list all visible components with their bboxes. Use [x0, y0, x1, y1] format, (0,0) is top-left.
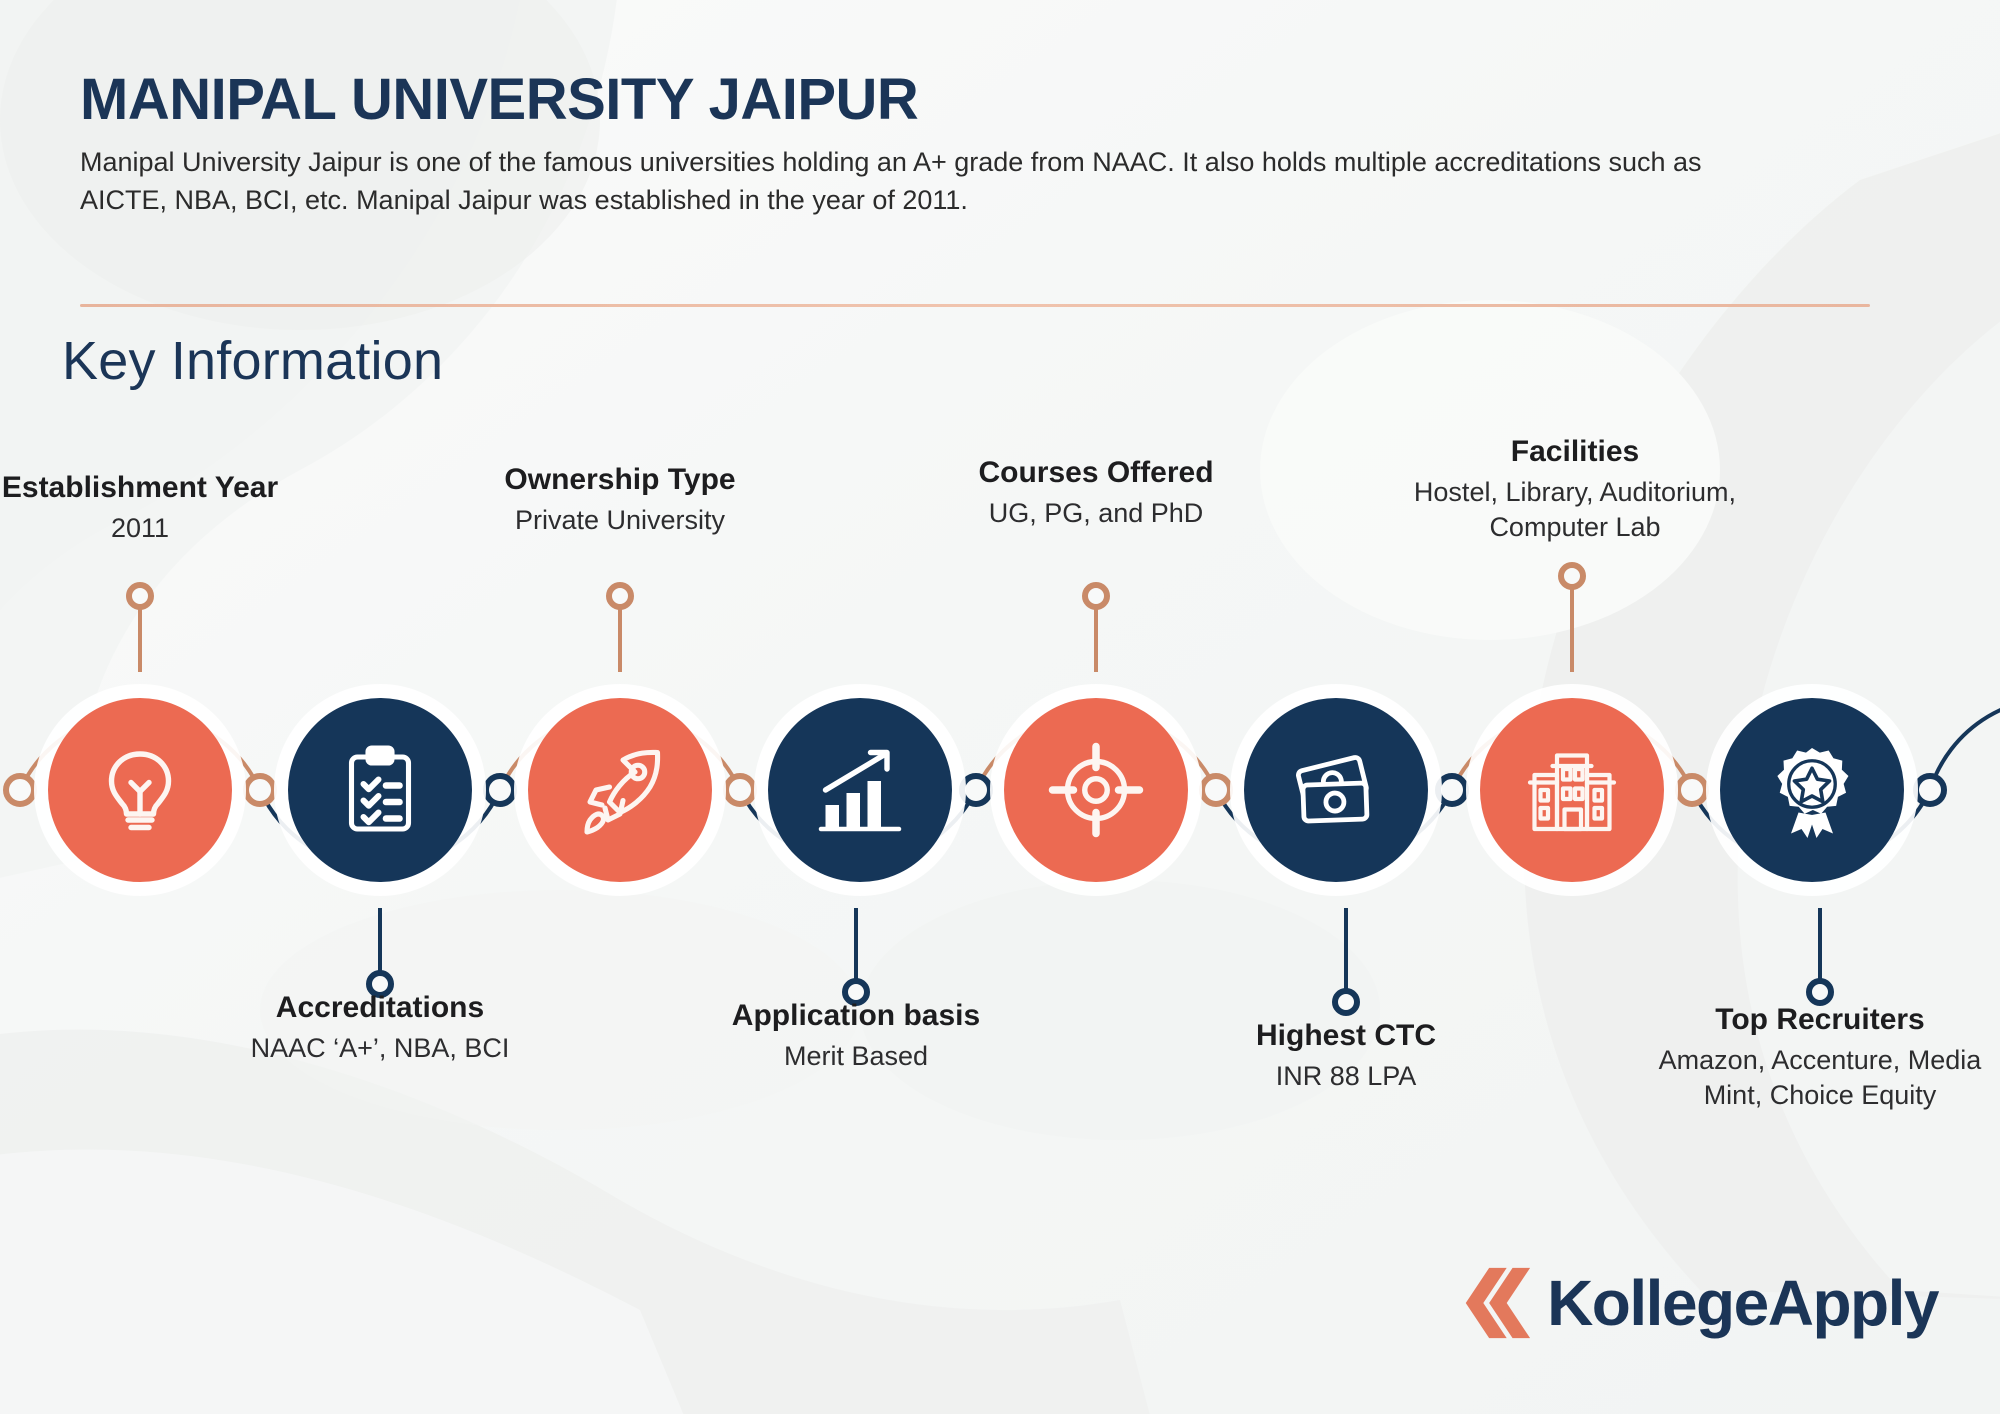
label-accreditations: Accreditations NAAC ‘A+’, NBA, BCI — [190, 990, 570, 1066]
icon-circle-establishment-year[interactable] — [48, 698, 232, 882]
label-title: Establishment Year — [0, 470, 325, 505]
award-badge-icon — [1764, 742, 1860, 838]
header: MANIPAL UNIVERSITY JAIPUR Manipal Univer… — [80, 70, 1880, 220]
label-value: Hostel, Library, Auditorium, Computer La… — [1355, 475, 1795, 545]
label-value: Private University — [435, 503, 805, 538]
label-establishment-year: Establishment Year 2011 — [0, 470, 325, 546]
page-title: MANIPAL UNIVERSITY JAIPUR — [80, 70, 1880, 131]
icon-circle-ownership-type[interactable] — [528, 698, 712, 882]
label-top-recruiters: Top Recruiters Amazon, Accenture, Media … — [1645, 1002, 1995, 1114]
icon-circle-facilities[interactable] — [1480, 698, 1664, 882]
double-chevron-icon — [1459, 1264, 1531, 1342]
label-highest-ctc: Highest CTC INR 88 LPA — [1156, 1018, 1536, 1094]
page-subtitle: Manipal University Jaipur is one of the … — [80, 143, 1780, 220]
label-title: Accreditations — [190, 990, 570, 1025]
label-title: Facilities — [1355, 434, 1795, 469]
label-courses-offered: Courses Offered UG, PG, and PhD — [911, 455, 1281, 531]
label-value: NAAC ‘A+’, NBA, BCI — [190, 1031, 570, 1066]
label-title: Highest CTC — [1156, 1018, 1536, 1053]
building-icon — [1524, 742, 1620, 838]
growth-chart-icon — [812, 742, 908, 838]
target-icon — [1048, 742, 1144, 838]
label-facilities: Facilities Hostel, Library, Auditorium, … — [1355, 434, 1795, 546]
label-value: Amazon, Accenture, Media Mint, Choice Eq… — [1645, 1043, 1995, 1113]
lightbulb-icon — [92, 742, 188, 838]
icon-circle-courses-offered[interactable] — [1004, 698, 1188, 882]
divider — [80, 304, 1870, 307]
clipboard-checklist-icon — [332, 742, 428, 838]
label-title: Ownership Type — [435, 462, 805, 497]
icon-circle-accreditations[interactable] — [288, 698, 472, 882]
section-title: Key Information — [62, 330, 443, 392]
rocket-icon — [572, 742, 668, 838]
label-application-basis: Application basis Merit Based — [666, 998, 1046, 1074]
label-ownership-type: Ownership Type Private University — [435, 462, 805, 538]
label-title: Application basis — [666, 998, 1046, 1033]
label-value: UG, PG, and PhD — [911, 496, 1281, 531]
label-value: 2011 — [0, 511, 325, 546]
icon-circle-top-recruiters[interactable] — [1720, 698, 1904, 882]
label-title: Courses Offered — [911, 455, 1281, 490]
kollegeapply-logo[interactable]: KollegeApply — [1459, 1264, 1938, 1342]
icon-circle-highest-ctc[interactable] — [1244, 698, 1428, 882]
label-value: INR 88 LPA — [1156, 1059, 1536, 1094]
icon-circle-application-basis[interactable] — [768, 698, 952, 882]
label-value: Merit Based — [666, 1039, 1046, 1074]
money-notes-icon — [1288, 742, 1384, 838]
logo-text: KollegeApply — [1547, 1271, 1938, 1335]
label-title: Top Recruiters — [1645, 1002, 1995, 1037]
